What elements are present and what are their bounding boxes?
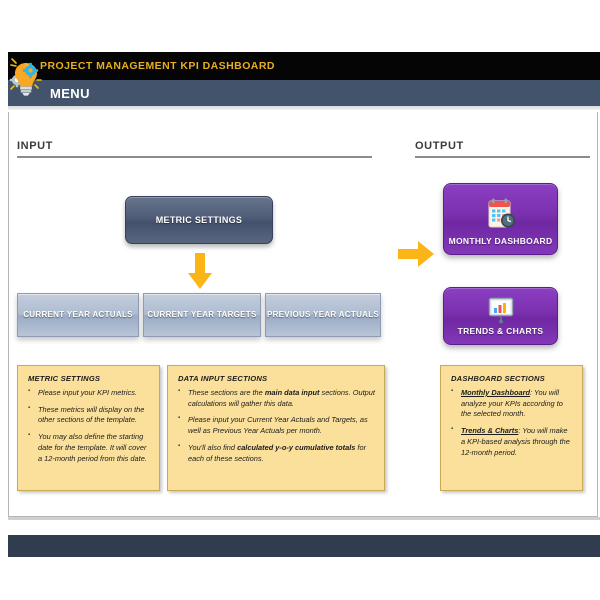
arrow-down-icon [186,253,214,296]
metric-settings-note-title: METRIC SETTINGS [28,374,150,383]
trends-charts-button-label: TRENDS & CHARTS [458,327,544,337]
footer-bar [8,535,600,557]
data-input-note: DATA INPUT SECTIONS These sections are t… [167,365,385,491]
output-section-label: OUTPUT [415,140,590,156]
list-item: These sections are the main data input s… [177,388,375,409]
dashboard-sections-note-list: Monthly Dashboard: You will analyze your… [450,388,573,458]
output-section-rule [415,156,590,158]
list-item-text-part: These sections are the [188,388,265,397]
list-item-emphasis: calculated y-o-y cumulative totals [237,443,355,452]
current-year-targets-button-label: CURRENT YEAR TARGETS [147,310,256,319]
presentation-bar-chart-icon [444,288,557,327]
monthly-dashboard-button-label: MONTHLY DASHBOARD [449,237,553,247]
output-section-header: OUTPUT [415,140,590,158]
metric-settings-button[interactable]: METRIC SETTINGS [125,196,273,244]
current-year-targets-button[interactable]: CURRENT YEAR TARGETS [143,293,261,337]
list-item-emphasis: Monthly Dashboard [461,388,530,397]
metric-settings-note-list: Please input your KPI metrics. These met… [27,388,150,464]
arrow-right-icon [398,238,436,275]
current-year-actuals-button-label: CURRENT YEAR ACTUALS [23,310,133,319]
data-input-note-title: DATA INPUT SECTIONS [178,374,375,383]
metric-settings-button-label: METRIC SETTINGS [156,215,243,225]
dashboard-sections-note: DASHBOARD SECTIONS Monthly Dashboard: Yo… [440,365,583,491]
list-item: These metrics will display on the other … [27,405,150,426]
input-section-header: INPUT [17,140,372,158]
previous-year-actuals-button[interactable]: PREVIOUS YEAR ACTUALS [265,293,381,337]
menu-bar: MENU [8,80,600,106]
dashboard-sections-note-title: DASHBOARD SECTIONS [451,374,573,383]
monthly-dashboard-button[interactable]: MONTHLY DASHBOARD [443,183,558,255]
list-item: You'll also find calculated y-o-y cumula… [177,443,375,464]
list-item: Please input your Current Year Actuals a… [177,415,375,436]
title-bar: PROJECT MANAGEMENT KPI DASHBOARD [8,52,600,80]
list-item-emphasis: main data input [265,388,320,397]
list-item-emphasis: Trends & Charts [461,426,518,435]
trends-charts-button[interactable]: TRENDS & CHARTS [443,287,558,345]
calendar-clock-icon [444,184,557,237]
data-input-note-list: These sections are the main data input s… [177,388,375,464]
previous-year-actuals-button-label: PREVIOUS YEAR ACTUALS [267,310,379,319]
kpi-dashboard-menu-page: PROJECT MANAGEMENT KPI DASHBOARD [0,0,600,600]
input-section-rule [17,156,372,158]
list-item: You may also define the starting date fo… [27,432,150,464]
menu-label: MENU [50,86,90,101]
menu-bar-shadow [8,106,600,110]
input-section-label: INPUT [17,140,372,156]
current-year-actuals-button[interactable]: CURRENT YEAR ACTUALS [17,293,139,337]
sheet-bottom-shadow [8,517,600,520]
metric-settings-note: METRIC SETTINGS Please input your KPI me… [17,365,160,491]
list-item: Monthly Dashboard: You will analyze your… [450,388,573,420]
list-item: Please input your KPI metrics. [27,388,150,399]
list-item: Trends & Charts: You will make a KPI-bas… [450,426,573,458]
list-item-text-part: You'll also find [188,443,237,452]
dashboard-title: PROJECT MANAGEMENT KPI DASHBOARD [40,60,275,72]
